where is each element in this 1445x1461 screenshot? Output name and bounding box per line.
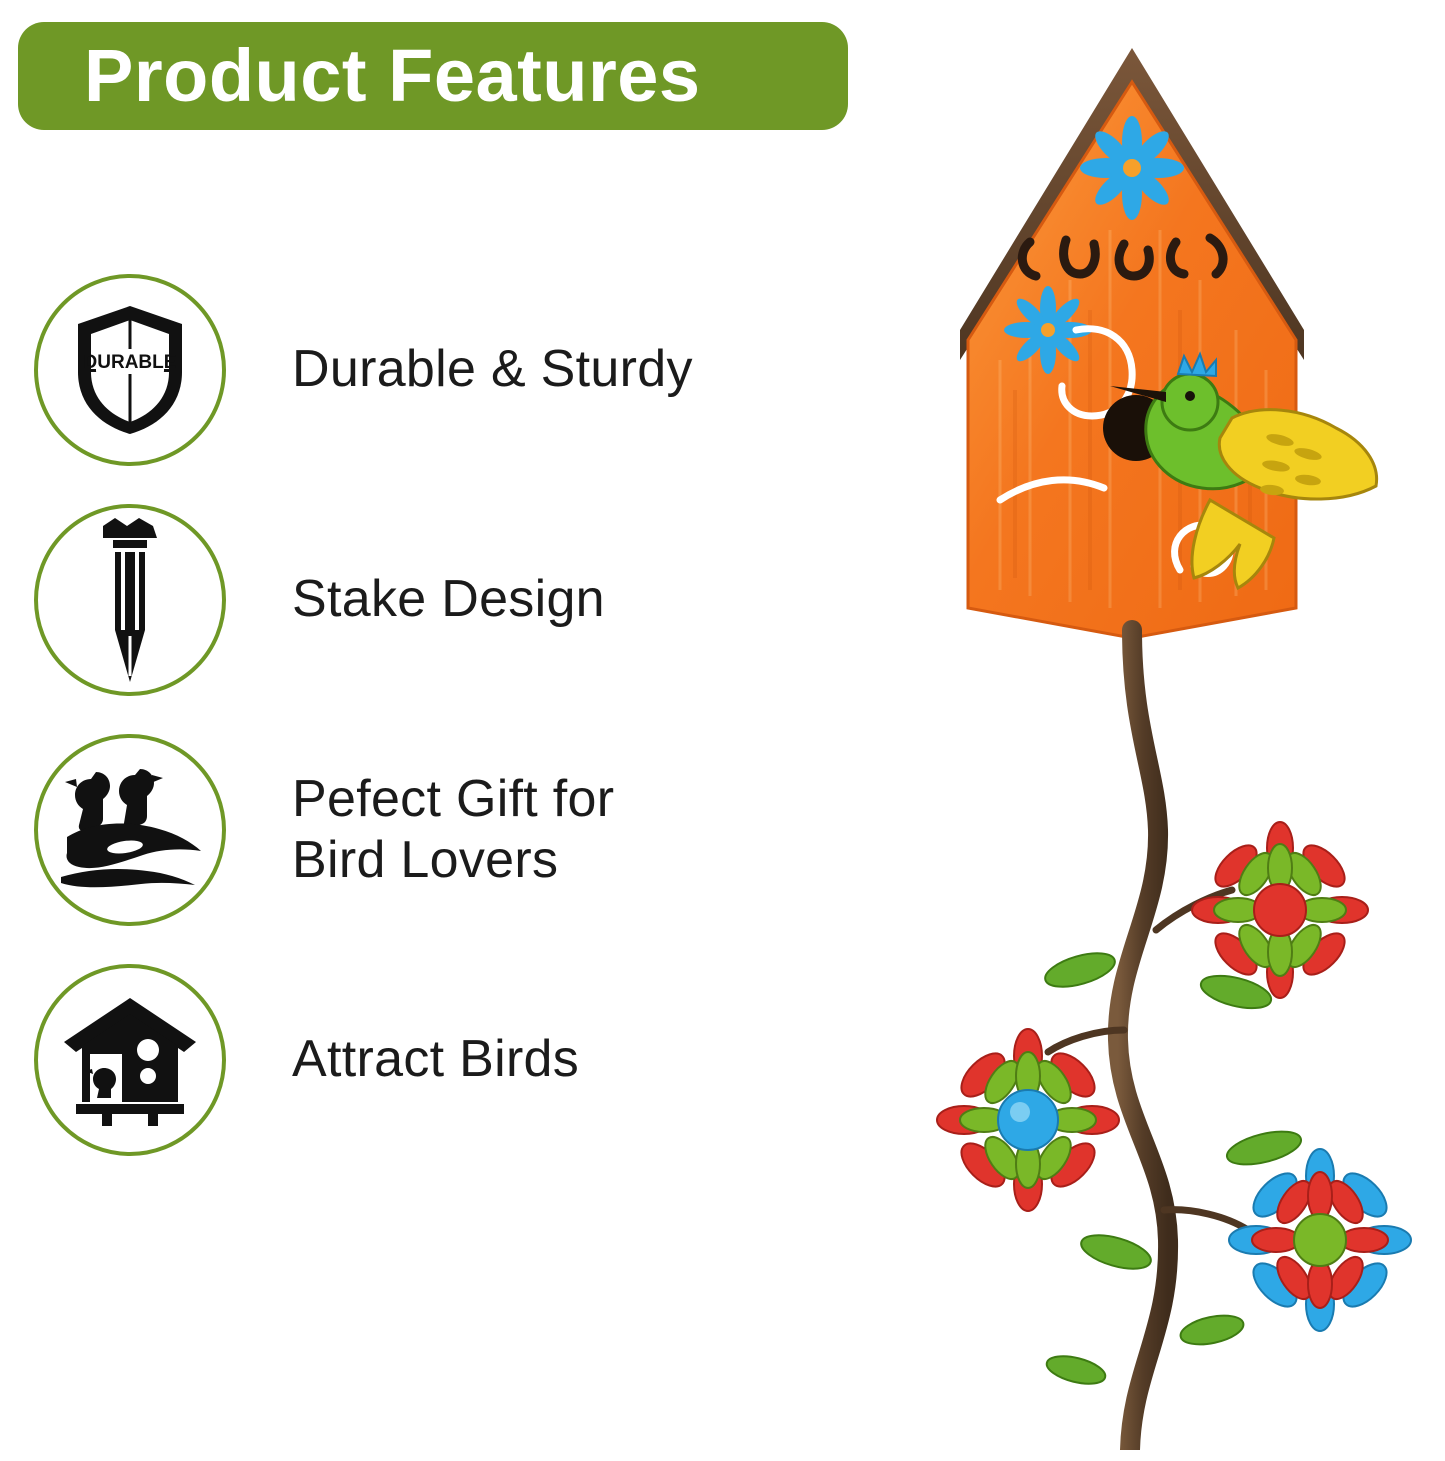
feature-label-line1: Stake Design <box>292 570 605 628</box>
feature-item-attract: Attract Birds <box>18 945 878 1175</box>
feature-label-line1: Pefect Gift for <box>292 770 614 828</box>
feature-label-stake: Stake Design <box>292 569 605 630</box>
feature-item-gift: Pefect Gift for Bird Lovers <box>18 715 878 945</box>
shield-icon-text: DURABLE <box>84 352 177 373</box>
feature-item-durable: DURABLE Durable & Sturdy <box>18 255 878 485</box>
metal-flower-red-green <box>1192 822 1368 998</box>
feature-label-durable: Durable & Sturdy <box>292 339 693 400</box>
metal-flower-blue-red <box>1229 1149 1411 1331</box>
feature-label-attract: Attract Birds <box>292 1029 579 1090</box>
stake-icon <box>34 504 226 696</box>
page-title: Product Features <box>84 39 701 113</box>
feature-item-stake: Stake Design <box>18 485 878 715</box>
feature-label-line1: Durable & Sturdy <box>292 340 693 398</box>
shield-durable-icon: DURABLE <box>34 274 226 466</box>
product-image-hummingbird-birdhouse-stake <box>880 30 1440 1450</box>
feature-label-gift: Pefect Gift for Bird Lovers <box>292 769 614 892</box>
feature-label-line1: Attract Birds <box>292 1030 579 1088</box>
metal-flower-red-blue <box>937 1029 1119 1211</box>
feature-list: DURABLE Durable & Sturdy Stake Design <box>18 255 878 1175</box>
feature-label-line2: Bird Lovers <box>292 830 614 891</box>
page-title-badge: Product Features <box>18 22 848 130</box>
birdhouse-icon <box>34 964 226 1156</box>
stake-stem <box>1118 630 1168 1450</box>
two-birds-icon <box>34 734 226 926</box>
